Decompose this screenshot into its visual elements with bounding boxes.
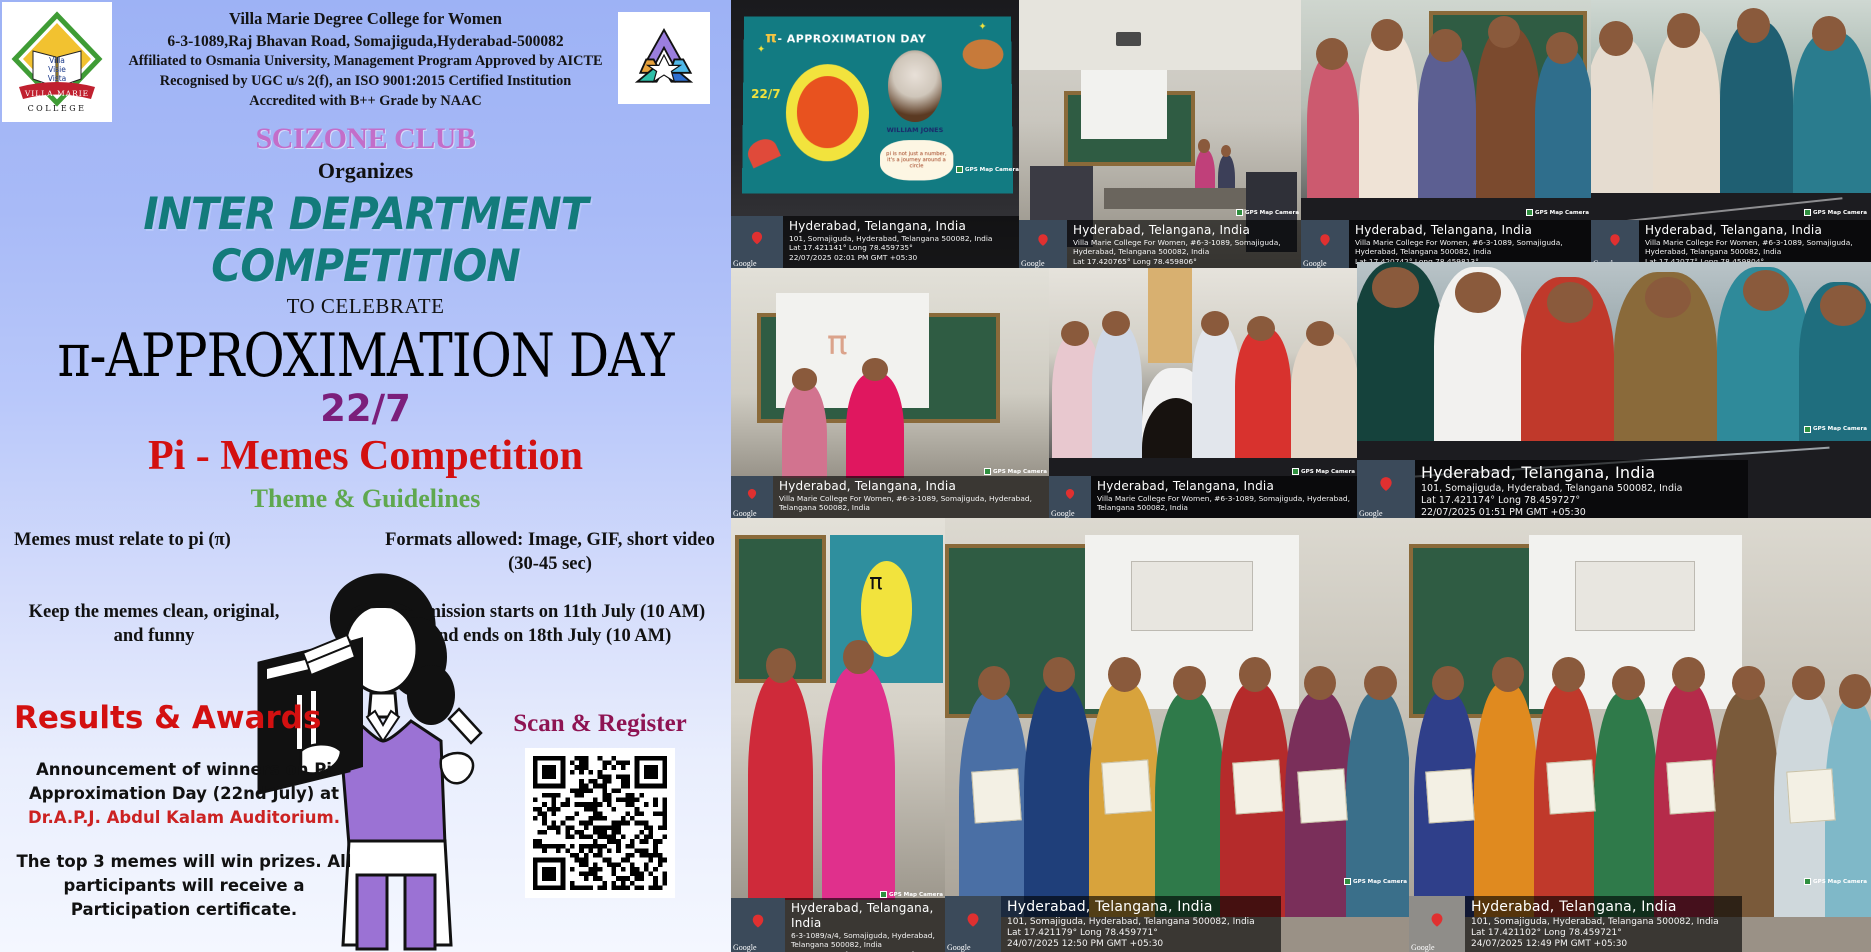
svg-text:Visie: Visie [48, 65, 66, 74]
google-label: Google [1411, 943, 1435, 952]
person-head [1732, 666, 1764, 701]
gps-text-block: Hyderabad, Telangana, India 101, Somajig… [1001, 896, 1261, 952]
person-head [1812, 16, 1846, 51]
gps-address: Villa Marie College For Women, #6-3-1089… [1355, 238, 1587, 257]
william-jones-portrait [888, 50, 942, 122]
person-head [1792, 666, 1824, 701]
gps-city: Hyderabad, Telangana, India [1007, 899, 1255, 917]
subevent-title: Pi - Memes Competition [0, 432, 731, 480]
person [1235, 328, 1291, 468]
slide-pi-glyph: π [869, 570, 882, 595]
gps-address: 101, Somajiguda, Hyderabad, Telangana 50… [1421, 483, 1682, 495]
certificate [971, 768, 1021, 823]
pie-graphic [785, 64, 869, 161]
person [1653, 27, 1720, 209]
person [1476, 27, 1540, 204]
event-date: 22/7 [0, 387, 731, 430]
gps-map-thumbnail: Google [945, 896, 1001, 952]
person-head [1173, 666, 1206, 701]
person-head [1043, 657, 1076, 692]
certificate [1102, 759, 1152, 814]
gps-overlay: Google Hyderabad, Telangana, India 101, … [1409, 896, 1742, 952]
certificate [1786, 768, 1836, 823]
gps-coordinates: Lat 17.421102° Long 78.459721° [1471, 928, 1719, 939]
to-celebrate-label: TO CELEBRATE [0, 294, 731, 319]
gps-map-thumbnail: Google [731, 898, 785, 952]
gps-map-camera-badge: GPS Map Camera [1804, 209, 1867, 216]
person [1307, 54, 1360, 215]
gps-badge-icon [1236, 209, 1243, 216]
cookie-graphic [962, 39, 1002, 69]
google-label: Google [947, 943, 971, 952]
gps-badge-icon [1292, 468, 1299, 475]
map-pin-icon [1378, 475, 1393, 495]
gps-address: 6-3-1089/a/4, Somajiguda, Hyderabad, Tel… [791, 931, 941, 950]
college-affiliation: Affiliated to Osmania University, Manage… [118, 52, 613, 72]
person-head [1672, 657, 1704, 692]
college-logo: Villa Visie Vista VILLA MARIE COLLEGE [2, 2, 112, 122]
gps-badge-label: GPS Map Camera [1245, 210, 1299, 216]
college-recognition: Recognised by UGC u/s 2(f), an ISO 9001:… [118, 72, 613, 92]
person-head [1820, 285, 1866, 326]
person-head [1612, 666, 1644, 701]
gps-address: Villa Marie College For Women, #6-3-1089… [1073, 238, 1297, 257]
person [1359, 32, 1417, 209]
person-head [1839, 674, 1871, 709]
gps-badge-label: GPS Map Camera [1813, 426, 1867, 432]
person-head [843, 640, 873, 675]
person [1092, 323, 1142, 468]
villa-marie-crest-icon: Villa Visie Vista VILLA MARIE COLLEGE [9, 7, 105, 117]
photo-certificate-group-2[interactable]: GPS Map Camera Google Hyderabad, Telanga… [1409, 518, 1871, 952]
google-label: Google [733, 943, 757, 952]
gps-badge-label: GPS Map Camera [889, 892, 943, 898]
gps-text-block: Hyderabad, Telangana, India 6-3-1089/a/4… [785, 898, 947, 952]
gps-badge-icon [984, 468, 991, 475]
gps-map-thumbnail: Google [1409, 896, 1465, 952]
gps-city: Hyderabad, Telangana, India [1355, 223, 1587, 238]
map-pin-icon [1319, 232, 1331, 248]
person [1535, 48, 1593, 209]
gps-address: 101, Somajiguda, Hyderabad, Telangana 50… [789, 234, 992, 243]
gps-map-camera-badge: GPS Map Camera [984, 468, 1047, 475]
map-pin-icon [966, 910, 981, 929]
gps-badge-icon [1344, 878, 1351, 885]
google-label: Google [1303, 259, 1327, 268]
gps-badge-icon [1804, 878, 1811, 885]
svg-text:VILLA MARIE: VILLA MARIE [24, 89, 89, 98]
gps-badge-label: GPS Map Camera [993, 469, 1047, 475]
person [822, 666, 895, 918]
gps-overlay: Google Hyderabad, Telangana, India 6-3-1… [731, 898, 947, 952]
photo-students-activity-2[interactable]: GPS Map Camera Google Hyderabad, Telanga… [1591, 0, 1871, 268]
person-head [1247, 316, 1275, 341]
certificate [1546, 759, 1596, 814]
slide-content [1131, 561, 1252, 630]
gps-city: Hyderabad, Telangana, India [1421, 463, 1682, 483]
certificate [1232, 759, 1282, 814]
person [1192, 323, 1242, 463]
door [1148, 268, 1191, 363]
person-head [1198, 139, 1209, 152]
slide-person-name: WILLIAM JONES [882, 126, 947, 134]
college-accreditation: Accredited with B++ Grade by NAAC [118, 92, 613, 112]
green-board [945, 544, 1103, 718]
person-head [1737, 8, 1771, 43]
gps-map-camera-badge: GPS Map Camera [1804, 878, 1867, 885]
photo-certificate-group-1[interactable]: GPS Map Camera Google Hyderabad, Telanga… [945, 518, 1411, 952]
person-head [1667, 13, 1701, 48]
person-head [1455, 272, 1501, 313]
ceiling [1019, 0, 1303, 70]
person [1418, 43, 1476, 204]
slide-date: 22/7 [751, 87, 781, 101]
person [1346, 692, 1411, 944]
event-title: π-APPROXIMATION DAY [26, 321, 706, 391]
gps-badge-label: GPS Map Camera [965, 167, 1019, 173]
gps-text-block: Hyderabad, Telangana, India 101, Somajig… [1465, 896, 1725, 952]
slide-quote: pi is not just a number, it's a journey … [880, 140, 953, 181]
college-address: 6-3-1089,Raj Bhavan Road, Somajiguda,Hyd… [118, 31, 613, 52]
gps-address: Villa Marie College For Women, #6-3-1089… [779, 494, 1045, 513]
map-pin-icon [751, 911, 765, 929]
person-head [1372, 267, 1418, 308]
gps-city: Hyderabad, Telangana, India [1097, 479, 1353, 494]
google-label: Google [1021, 259, 1045, 268]
gps-timestamp: 22/07/2025 01:51 PM GMT +05:30 [1421, 507, 1682, 518]
map-pin-icon [750, 229, 764, 247]
gps-coordinates: Lat 17.421174° Long 78.459727° [1421, 495, 1682, 507]
gps-overlay: Google Hyderabad, Telangana, India 101, … [945, 896, 1281, 952]
gps-overlay: Google Hyderabad, Telangana, India 101, … [731, 216, 1023, 268]
photo-stage-presentation[interactable]: π GPS Map Camera Google Hyderabad, Telan… [731, 518, 947, 952]
college-identity-block: Villa Marie Degree College for Women 6-3… [118, 8, 613, 111]
results-venue: Dr.A.P.J. Abdul Kalam Auditorium. [28, 808, 340, 827]
gps-badge-icon [1804, 209, 1811, 216]
gps-map-camera-badge: GPS Map Camera [1292, 468, 1355, 475]
gps-badge-label: GPS Map Camera [1353, 879, 1407, 885]
person-head [792, 368, 818, 391]
gps-text-block: Hyderabad, Telangana, India Villa Marie … [773, 476, 1051, 516]
gps-overlay: Google Hyderabad, Telangana, India Villa… [1591, 220, 1871, 268]
qr-code[interactable] [525, 748, 675, 898]
gps-text-block: Hyderabad, Telangana, India Villa Marie … [1639, 220, 1871, 268]
person-head [1061, 321, 1089, 346]
results-announcement: Announcement of winners on Pi Approximat… [14, 758, 354, 830]
gps-text-block: Hyderabad, Telangana, India Villa Marie … [1349, 220, 1593, 268]
gps-city: Hyderabad, Telangana, India [779, 479, 1045, 494]
photo-students-activity-1[interactable]: GPS Map Camera Google Hyderabad, Telanga… [1301, 0, 1593, 268]
certificate [1297, 768, 1347, 823]
gps-city: Hyderabad, Telangana, India [1073, 223, 1297, 238]
gps-map-camera-badge: GPS Map Camera [956, 166, 1019, 173]
gps-city: Hyderabad, Telangana, India [789, 219, 992, 234]
gps-badge-icon [1804, 426, 1811, 433]
qr-code-image[interactable] [533, 756, 667, 890]
gps-map-thumbnail: Google [1591, 220, 1639, 268]
person [1591, 38, 1653, 210]
gps-badge-label: GPS Map Camera [1813, 210, 1867, 216]
gps-timestamp: 24/07/2025 12:50 PM GMT +05:30 [1007, 939, 1255, 950]
gps-map-thumbnail: Google [1049, 476, 1091, 518]
photo-faculty-students-table[interactable]: GPS Map Camera Google Hyderabad, Telanga… [1357, 262, 1871, 518]
person-head [766, 648, 796, 683]
person-head [1552, 657, 1584, 692]
gps-coordinates: Lat 17.421179° Long 78.459771° [1007, 928, 1255, 939]
svg-text:Villa: Villa [49, 56, 65, 65]
gps-text-block: Hyderabad, Telangana, India 101, Somajig… [783, 216, 998, 265]
scizone-club-logo [618, 12, 710, 104]
person-head [1102, 311, 1130, 336]
photo-presenters[interactable]: π GPS Map Camera Google Hyderabad, Telan… [731, 268, 1051, 518]
gps-map-camera-badge: GPS Map Camera [1344, 878, 1407, 885]
watermelon-graphic [744, 135, 781, 169]
gps-map-thumbnail: Google [1019, 220, 1067, 268]
results-heading: Results & Awards [14, 700, 354, 736]
person-head [1201, 311, 1229, 336]
google-label: Google [733, 259, 757, 268]
sparkle-icon: ✦ [757, 45, 765, 56]
person-head [1492, 657, 1524, 692]
svg-text:Vista: Vista [48, 74, 67, 83]
gps-map-camera-badge: GPS Map Camera [1804, 426, 1867, 433]
event-report-page: Villa Visie Vista VILLA MARIE COLLEGE Vi… [0, 0, 1871, 952]
photo-classroom-audience[interactable]: GPS Map Camera Google Hyderabad, Telanga… [1019, 0, 1303, 268]
scan-register-heading: Scan & Register [500, 710, 700, 738]
gps-address: Villa Marie College For Women, #6-3-1089… [1097, 494, 1353, 513]
slide-title: π- APPROXIMATION DAY [765, 29, 926, 47]
person-head [1488, 16, 1520, 48]
theme-guidelines-heading: Theme & Guidelines [0, 484, 731, 514]
gps-map-camera-badge: GPS Map Camera [1526, 209, 1589, 216]
map-pin-icon [1037, 232, 1049, 248]
results-line1: Announcement of winners on Pi Approximat… [29, 760, 339, 803]
person-head [1221, 145, 1231, 157]
gps-text-block: Hyderabad, Telangana, India 101, Somajig… [1415, 460, 1688, 518]
slide-title-text: - APPROXIMATION DAY [777, 33, 926, 46]
svg-text:COLLEGE: COLLEGE [28, 104, 87, 113]
gps-address: 101, Somajiguda, Hyderabad, Telangana 50… [1471, 917, 1719, 928]
map-pin-icon [1430, 910, 1445, 929]
results-prizes: The top 3 memes will win prizes. All par… [14, 850, 354, 922]
slide-content [1575, 561, 1695, 630]
person-head [1239, 657, 1272, 692]
person-head [1316, 38, 1348, 70]
map-pin-icon [1065, 486, 1076, 500]
person-head [1364, 666, 1397, 701]
map-pin-icon [1609, 232, 1621, 248]
competition-title: INTER DEPARTMENT COMPETITION [0, 188, 731, 292]
google-label: Google [733, 509, 757, 518]
college-name: Villa Marie Degree College for Women [118, 8, 613, 31]
slide-pi-glyph: π [765, 29, 777, 47]
desk-row [1104, 188, 1269, 209]
gps-overlay: Google Hyderabad, Telangana, India 101, … [1357, 460, 1748, 518]
results-awards-block: Results & Awards Announcement of winners… [14, 700, 354, 922]
gps-timestamp: 22/07/2025 02:01 PM GMT +05:30 [789, 253, 992, 262]
gps-map-thumbnail: Google [1301, 220, 1349, 268]
gps-coordinates: Lat 17.421141° Long 78.459735° [789, 243, 992, 252]
photo-projector-slide[interactable]: π- APPROXIMATION DAY ✦ ✦ 22/7 WILLIAM JO… [731, 0, 1023, 268]
gps-badge-label: GPS Map Camera [1535, 210, 1589, 216]
photo-collage: π- APPROXIMATION DAY ✦ ✦ 22/7 WILLIAM JO… [731, 0, 1871, 952]
gps-map-camera-badge: GPS Map Camera [1236, 209, 1299, 216]
person-head [1371, 19, 1403, 51]
gps-address: 101, Somajiguda, Hyderabad, Telangana 50… [1007, 917, 1255, 928]
gps-city: Hyderabad, Telangana, India [1645, 223, 1865, 238]
ceiling-projector [1116, 32, 1142, 45]
gps-city: Hyderabad, Telangana, India [791, 901, 941, 931]
gps-overlay: Google Hyderabad, Telangana, India Villa… [731, 476, 1051, 518]
google-label: Google [1359, 509, 1383, 518]
gps-badge-label: GPS Map Camera [1813, 879, 1867, 885]
gps-overlay: Google Hyderabad, Telangana, India Villa… [1019, 220, 1303, 268]
person [748, 674, 813, 917]
gps-map-thumbnail: Google [731, 476, 773, 518]
certificate [1666, 759, 1716, 814]
sparkle-icon: ✦ [978, 22, 986, 33]
green-board [1409, 544, 1548, 718]
gps-text-block: Hyderabad, Telangana, India Villa Marie … [1067, 220, 1303, 268]
map-pin-icon [747, 486, 758, 500]
person-head [862, 358, 888, 381]
gps-address: Villa Marie College For Women, #6-3-1089… [1645, 238, 1865, 257]
person [1291, 333, 1359, 468]
gps-text-block: Hyderabad, Telangana, India Villa Marie … [1091, 476, 1359, 516]
person-head [1306, 321, 1334, 346]
gps-badge-icon [956, 166, 963, 173]
organizes-label: Organizes [0, 158, 731, 184]
poster-header: Villa Visie Vista VILLA MARIE COLLEGE Vi… [0, 0, 731, 128]
google-label: Google [1051, 509, 1075, 518]
gps-city: Hyderabad, Telangana, India [1471, 899, 1719, 917]
certificate [1426, 768, 1476, 823]
gps-overlay: Google Hyderabad, Telangana, India Villa… [1301, 220, 1593, 268]
person-head [1429, 29, 1461, 61]
person-head [1108, 657, 1141, 692]
gps-overlay: Google Hyderabad, Telangana, India Villa… [1049, 476, 1359, 518]
person [1793, 32, 1871, 209]
event-poster: Villa Visie Vista VILLA MARIE COLLEGE Vi… [0, 0, 731, 952]
gps-coordinates: Lat 17.420765° Long 78.459806° [1073, 257, 1297, 266]
person [1720, 21, 1793, 209]
gps-badge-icon [1526, 209, 1533, 216]
person-head [1743, 270, 1789, 311]
person-head [1599, 21, 1633, 56]
scan-register-block: Scan & Register [500, 710, 700, 898]
projector-screen [1081, 70, 1166, 140]
person [1825, 700, 1871, 943]
gps-map-thumbnail: Google [731, 216, 783, 268]
gps-timestamp: 24/07/2025 12:49 PM GMT +05:30 [1471, 939, 1719, 950]
penrose-triangle-icon [627, 21, 701, 95]
photo-group-table-work[interactable]: GPS Map Camera Google Hyderabad, Telanga… [1049, 268, 1359, 518]
gps-map-thumbnail: Google [1357, 460, 1415, 518]
gps-badge-label: GPS Map Camera [1301, 469, 1355, 475]
